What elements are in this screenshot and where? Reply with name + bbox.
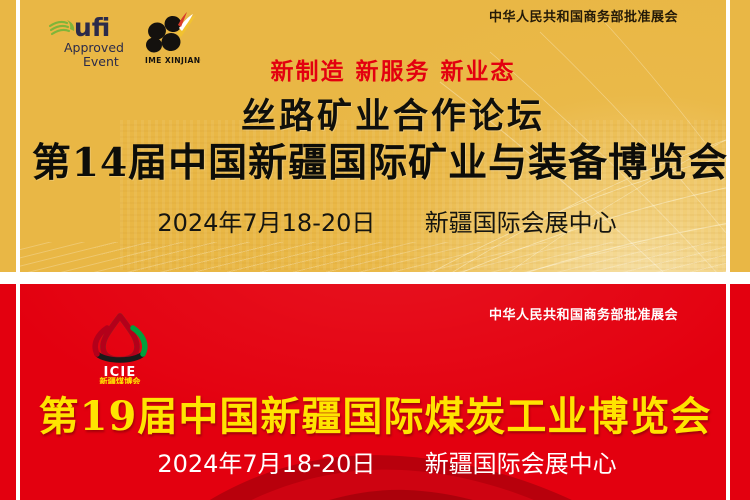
gold-event-date: 2024年7月18-20日 — [157, 209, 375, 237]
gold-bottom-streaks — [20, 242, 726, 272]
red-event-date: 2024年7月18-20日 — [157, 450, 375, 478]
gold-approval-text: 中华人民共和国商务部批准展会 — [489, 6, 678, 25]
gold-event-info: 2024年7月18-20日 新疆国际会展中心 — [0, 203, 750, 238]
gold-event-venue: 新疆国际会展中心 — [425, 209, 617, 237]
red-approval-text: 中华人民共和国商务部批准展会 — [489, 304, 678, 323]
gold-slogan: 新制造 新服务 新业态 — [0, 52, 750, 86]
banner-page: ufi Approved Event IME X — [0, 0, 750, 500]
banner-separator-gap — [0, 272, 750, 284]
gold-banner: ufi Approved Event IME X — [0, 0, 750, 272]
svg-text:新疆煤博会: 新疆煤博会 — [100, 376, 142, 384]
red-main-title: 第19届中国新疆国际煤炭工业博览会 — [0, 384, 750, 442]
svg-text:ufi: ufi — [74, 13, 110, 42]
gold-main-title: 第14届中国新疆国际矿业与装备博览会 — [0, 132, 750, 188]
icie-logo: ICIE 新疆煤博会 — [62, 306, 178, 384]
red-event-venue: 新疆国际会展中心 — [425, 450, 617, 478]
red-event-info: 2024年7月18-20日 新疆国际会展中心 — [0, 444, 750, 479]
red-banner: ICIE 新疆煤博会 中华人民共和国商务部批准展会 第19届中国新疆国际煤炭工业… — [0, 284, 750, 500]
